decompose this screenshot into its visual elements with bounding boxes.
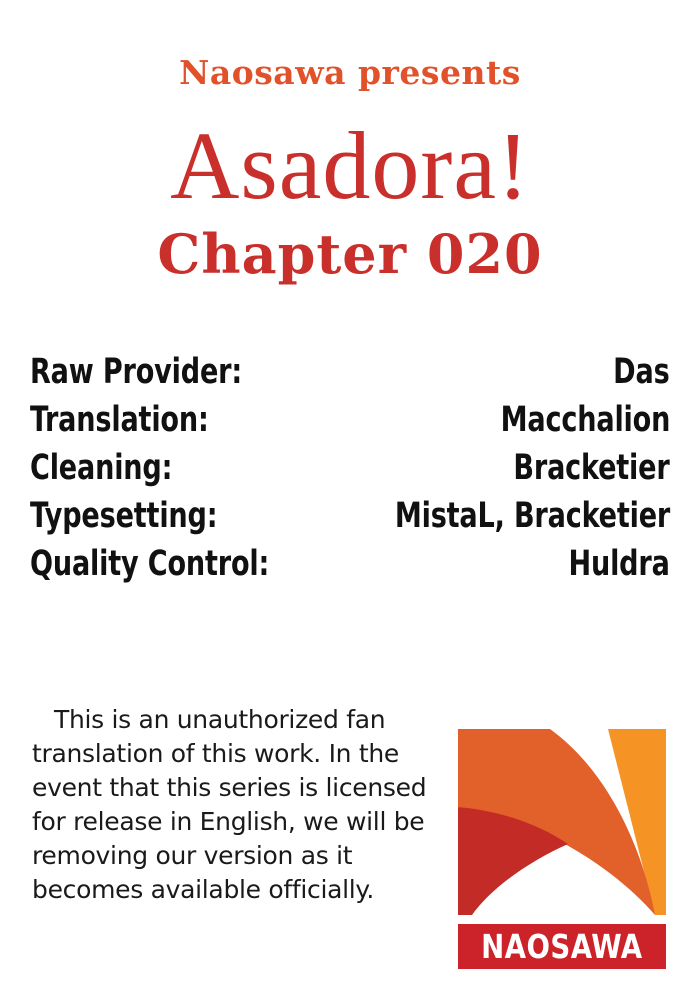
series-title: Asadora! bbox=[0, 118, 700, 214]
credit-label: Raw Provider: bbox=[30, 352, 242, 392]
naosawa-logo-banner: NAOSAWA bbox=[458, 924, 666, 969]
credit-row-translation: Translation: Macchalion bbox=[30, 400, 670, 448]
credit-row-raw-provider: Raw Provider: Das bbox=[30, 352, 670, 400]
naosawa-logo-mark-icon bbox=[458, 729, 666, 915]
credit-row-cleaning: Cleaning: Bracketier bbox=[30, 448, 670, 496]
disclaimer-text: This is an unauthorized fan translation … bbox=[32, 703, 432, 907]
credit-row-quality-control: Quality Control: Huldra bbox=[30, 544, 670, 592]
credit-value: Das bbox=[614, 352, 670, 392]
presents-line: Naosawa presents bbox=[0, 56, 700, 89]
credit-value: MistaL, Bracketier bbox=[395, 496, 670, 536]
naosawa-logo-banner-text: NAOSAWA bbox=[481, 930, 643, 963]
credit-label: Translation: bbox=[30, 400, 209, 440]
credit-value: Bracketier bbox=[514, 448, 670, 488]
naosawa-logo: NAOSAWA bbox=[458, 729, 666, 969]
credit-value: Macchalion bbox=[500, 400, 670, 440]
credits-list: Raw Provider: Das Translation: Macchalio… bbox=[30, 352, 670, 592]
credit-value: Huldra bbox=[569, 544, 670, 584]
chapter-number: Chapter 020 bbox=[0, 227, 700, 281]
credit-label: Typesetting: bbox=[30, 496, 217, 536]
credit-row-typesetting: Typesetting: MistaL, Bracketier bbox=[30, 496, 670, 544]
title-header: Naosawa presents Asadora! Chapter 020 bbox=[0, 0, 700, 281]
credit-label: Quality Control: bbox=[30, 544, 269, 584]
credits-page: Naosawa presents Asadora! Chapter 020 Ra… bbox=[0, 0, 700, 1002]
credit-label: Cleaning: bbox=[30, 448, 172, 488]
